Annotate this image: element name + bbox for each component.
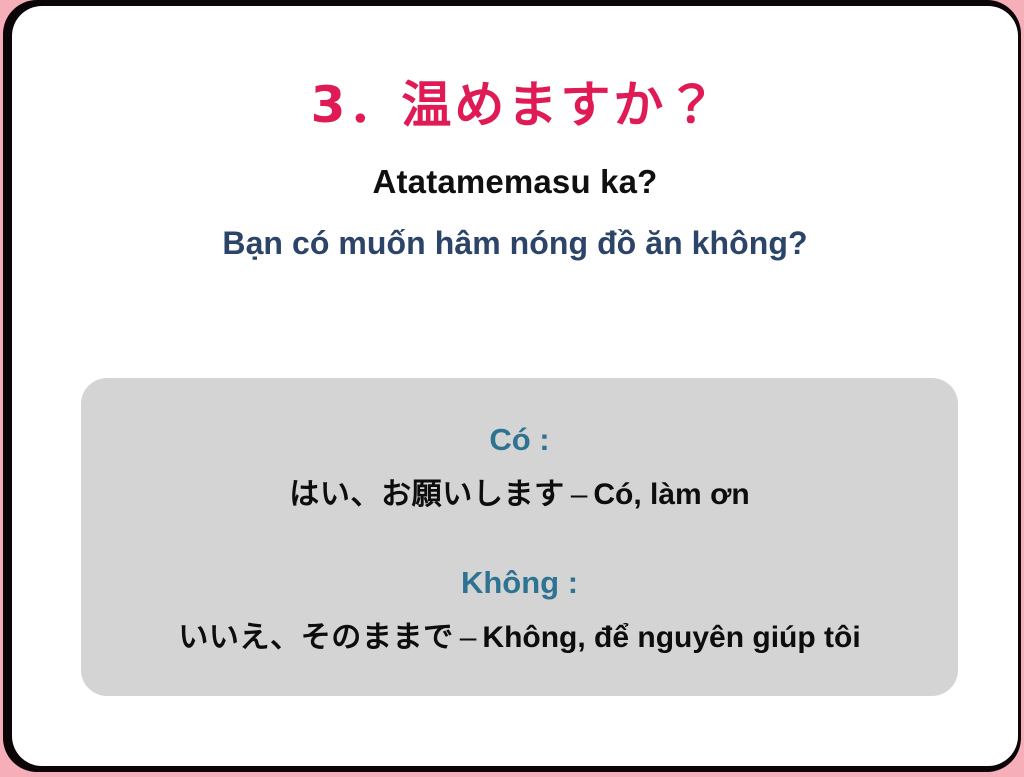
answers-panel: Có : はい、お願いします–Có, làm ơn Không : いいえ、その… bbox=[81, 378, 958, 696]
answer-label-no: Không : bbox=[81, 513, 958, 601]
page-title-japanese: 3．温めますか？ bbox=[12, 6, 1018, 133]
phrase-card: 3．温めますか？ Atatamemasu ka? Bạn có muốn hâm… bbox=[12, 6, 1018, 766]
answer-no-dash: – bbox=[454, 621, 483, 654]
card-border: 3．温めますか？ Atatamemasu ka? Bạn có muốn hâm… bbox=[3, 0, 1021, 772]
answer-line-no: いいえ、そのままで–Không, để nguyên giúp tôi bbox=[81, 601, 958, 656]
answer-group-no: Không : いいえ、そのままで–Không, để nguyên giúp … bbox=[81, 513, 958, 656]
answer-no-japanese: いいえ、そのままで bbox=[178, 620, 453, 655]
answer-yes-japanese: はい、お願いします bbox=[289, 477, 564, 512]
answer-yes-vietnamese: Có, làm ơn bbox=[593, 478, 749, 511]
answer-label-yes: Có : bbox=[81, 378, 958, 458]
title-vietnamese: Bạn có muốn hâm nóng đồ ăn không? bbox=[12, 201, 1018, 262]
answer-group-yes: Có : はい、お願いします–Có, làm ơn bbox=[81, 378, 958, 513]
answer-yes-dash: – bbox=[565, 478, 594, 511]
slide-frame: 3．温めますか？ Atatamemasu ka? Bạn có muốn hâm… bbox=[0, 0, 1024, 777]
answer-line-yes: はい、お願いします–Có, làm ơn bbox=[81, 458, 958, 513]
title-romaji: Atatamemasu ka? bbox=[12, 133, 1018, 201]
heading-block: 3．温めますか？ Atatamemasu ka? Bạn có muốn hâm… bbox=[12, 6, 1018, 262]
answer-no-vietnamese: Không, để nguyên giúp tôi bbox=[482, 621, 860, 654]
